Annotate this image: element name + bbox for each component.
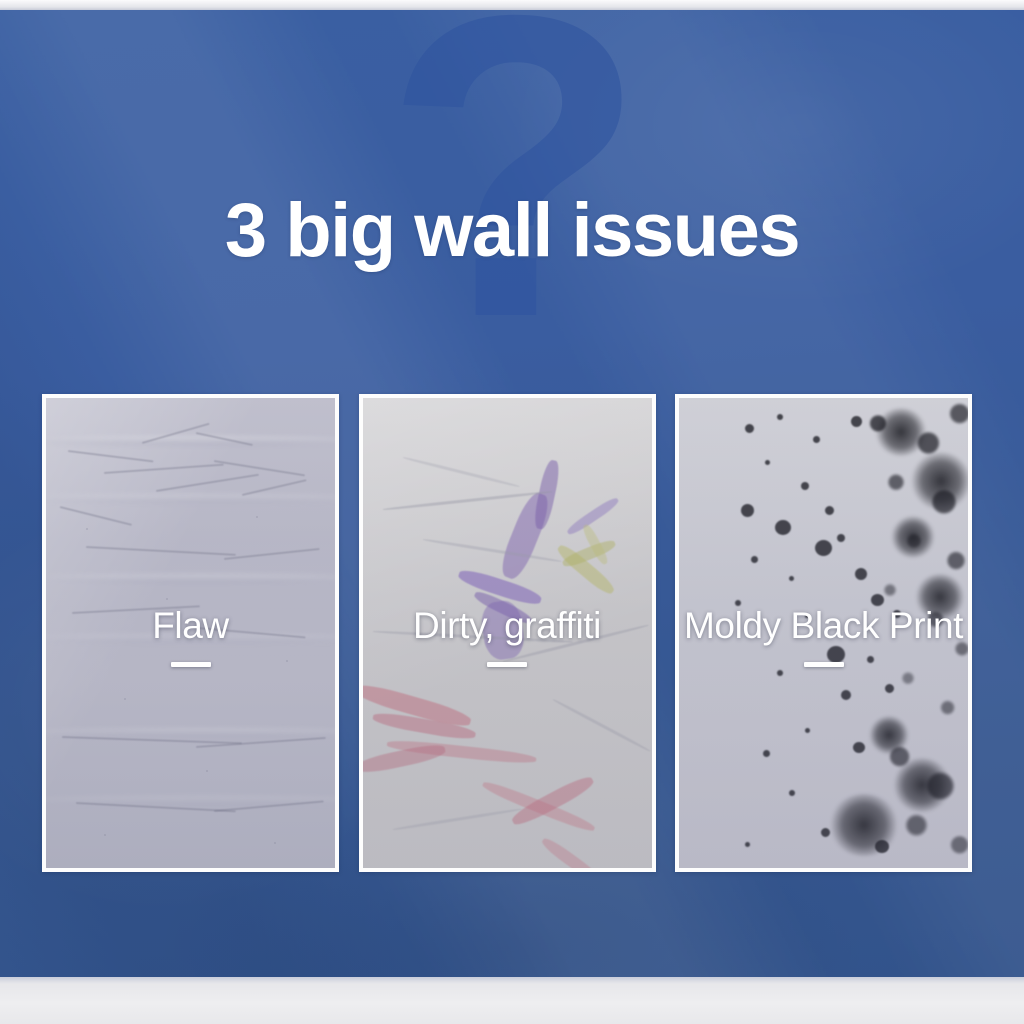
caption-underline <box>487 662 527 667</box>
issue-card-moldy-black-print[interactable]: Moldy Black Print <box>675 394 972 872</box>
top-edge-band <box>0 0 1024 10</box>
caption-underline <box>804 662 844 667</box>
slide-page: ? 3 big wall issues <box>0 0 1024 1024</box>
issue-card-dirty-graffiti[interactable]: Dirty, graffiti <box>359 394 656 872</box>
slide-title: 3 big wall issues <box>0 191 1024 271</box>
issue-card-caption: Dirty, graffiti <box>363 606 652 647</box>
issue-card-caption: Moldy Black Print <box>679 606 968 647</box>
caption-underline <box>171 662 211 667</box>
issue-card-flaw[interactable]: Flaw <box>42 394 339 872</box>
slide-canvas: ? 3 big wall issues <box>0 10 1024 977</box>
bottom-edge-band <box>0 977 1024 1024</box>
issue-card-row: Flaw <box>42 394 972 872</box>
issue-card-caption: Flaw <box>46 606 335 647</box>
